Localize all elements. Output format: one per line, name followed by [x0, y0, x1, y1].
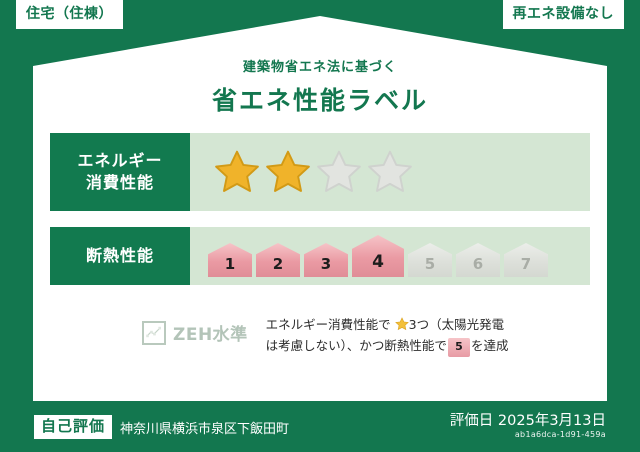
insulation-grade-5: 5: [408, 243, 452, 277]
zeh-description-line1: エネルギー消費性能で 3つ（太陽光発電: [266, 314, 509, 335]
label-subtitle: 建築物省エネ法に基づく: [0, 56, 640, 75]
evaluation-id: ab1a6dca-1d91-459a: [450, 430, 606, 440]
insulation-grade-2: 2: [256, 243, 300, 277]
property-address: 神奈川県横浜市泉区下飯田町: [120, 418, 289, 437]
zeh-section: ZEH水準 エネルギー消費性能で 3つ（太陽光発電 は考慮しない）、かつ断熱性能…: [50, 312, 590, 357]
insulation-grade-7: 7: [504, 243, 548, 277]
footer-right-group: 評価日 2025年3月13日 ab1a6dca-1d91-459a: [450, 413, 606, 440]
energy-performance-value: [190, 133, 590, 211]
zeh-description: エネルギー消費性能で 3つ（太陽光発電 は考慮しない）、かつ断熱性能で5を達成: [248, 312, 509, 357]
evaluation-date: 評価日 2025年3月13日: [450, 413, 606, 430]
energy-performance-row: エネルギー 消費性能: [50, 133, 590, 211]
energy-performance-label: エネルギー 消費性能: [50, 133, 190, 211]
evaluation-type-badge: 自己評価: [34, 415, 112, 439]
star-icon-empty: [316, 149, 362, 195]
insulation-performance-label: 断熱性能: [50, 227, 190, 285]
zeh-description-line2: は考慮しない）、かつ断熱性能で5を達成: [266, 335, 509, 357]
insulation-grade-6: 6: [456, 243, 500, 277]
star-icon-filled: [214, 149, 260, 195]
zeh-desc-line1-b: 3つ（太陽光発電: [409, 317, 504, 332]
zeh-desc-grade-badge: 5: [448, 338, 470, 357]
zeh-mark-label: ZEH水準: [173, 320, 248, 345]
insulation-grade-3: 3: [304, 243, 348, 277]
building-type-tag: 住宅（住棟）: [16, 0, 123, 29]
star-rating: [214, 149, 413, 195]
insulation-grade-scale: 1234567: [208, 235, 548, 277]
label-footer: 自己評価 神奈川県横浜市泉区下飯田町 評価日 2025年3月13日 ab1a6d…: [0, 402, 640, 452]
zeh-desc-line1-a: エネルギー消費性能で: [266, 317, 391, 332]
star-icon-filled: [265, 149, 311, 195]
energy-label-line2: 消費性能: [86, 172, 154, 194]
energy-performance-label: 住宅（住棟） 再エネ設備なし 建築物省エネ法に基づく 省エネ性能ラベル エネルギ…: [0, 0, 640, 452]
page-title: 省エネ性能ラベル: [0, 81, 640, 117]
insulation-performance-value: 1234567: [190, 227, 590, 285]
insulation-label-text: 断熱性能: [86, 245, 154, 267]
insulation-grade-1: 1: [208, 243, 252, 277]
star-icon-empty: [367, 149, 413, 195]
zeh-house-icon: [142, 321, 166, 345]
page-title-block: 建築物省エネ法に基づく 省エネ性能ラベル: [0, 56, 640, 117]
insulation-grade-4: 4: [352, 235, 404, 277]
footer-left-group: 自己評価 神奈川県横浜市泉区下飯田町: [34, 415, 450, 439]
star-icon: [395, 317, 409, 331]
renewable-energy-tag: 再エネ設備なし: [503, 0, 625, 29]
zeh-desc-line2-b: を達成: [471, 338, 509, 353]
zeh-mark: ZEH水準: [50, 312, 248, 345]
energy-label-line1: エネルギー: [77, 150, 162, 172]
zeh-desc-line2-a: は考慮しない）、かつ断熱性能で: [266, 338, 447, 353]
insulation-performance-row: 断熱性能 1234567: [50, 227, 590, 285]
